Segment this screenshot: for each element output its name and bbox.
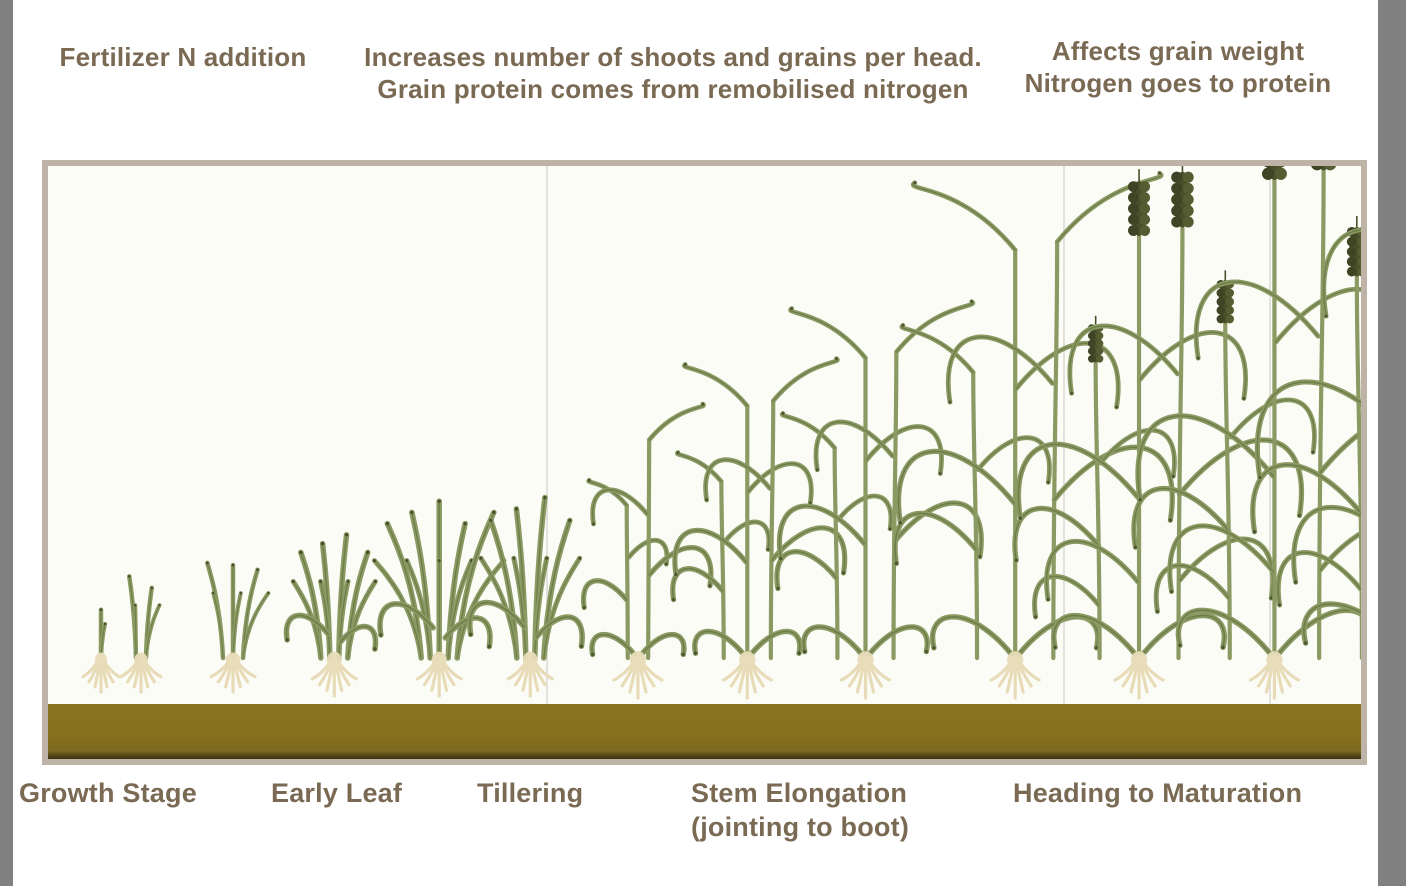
stage-label-row: Growth Stage Early Leaf Tillering Stem E… bbox=[13, 768, 1378, 886]
growth-stage-illustration-panel bbox=[42, 160, 1367, 765]
annotation-shoots-and-grains: Increases number of shoots and grains pe… bbox=[358, 42, 988, 106]
wheat-plant-tiller bbox=[298, 526, 371, 704]
wheat-plant-head bbox=[1263, 160, 1367, 704]
annotation-fertilizer-n-addition: Fertilizer N addition bbox=[18, 42, 348, 74]
wheat-plant-seedling bbox=[106, 562, 176, 704]
wheat-plant-tiller bbox=[393, 490, 485, 704]
soil-band bbox=[48, 704, 1361, 759]
annotation-grain-weight: Affects grain weight Nitrogen goes to pr… bbox=[978, 36, 1378, 100]
wheat-plant-tiller bbox=[483, 486, 578, 704]
annotation-row: Fertilizer N addition Increases number o… bbox=[13, 0, 1378, 160]
panel-inner bbox=[48, 166, 1361, 759]
stage-label-early-leaf: Early Leaf bbox=[271, 777, 402, 811]
stage-label-heading-to-maturation: Heading to Maturation bbox=[1013, 777, 1302, 811]
stage-label-stem-elongation: Stem Elongation (jointing to boot) bbox=[691, 777, 909, 845]
stage-label-growth-stage: Growth Stage bbox=[19, 777, 197, 811]
left-edge-bar bbox=[0, 0, 13, 886]
stage-label-tillering: Tillering bbox=[477, 777, 583, 811]
wheat-plant-seedling bbox=[198, 540, 268, 704]
right-edge-bar bbox=[1378, 0, 1406, 886]
